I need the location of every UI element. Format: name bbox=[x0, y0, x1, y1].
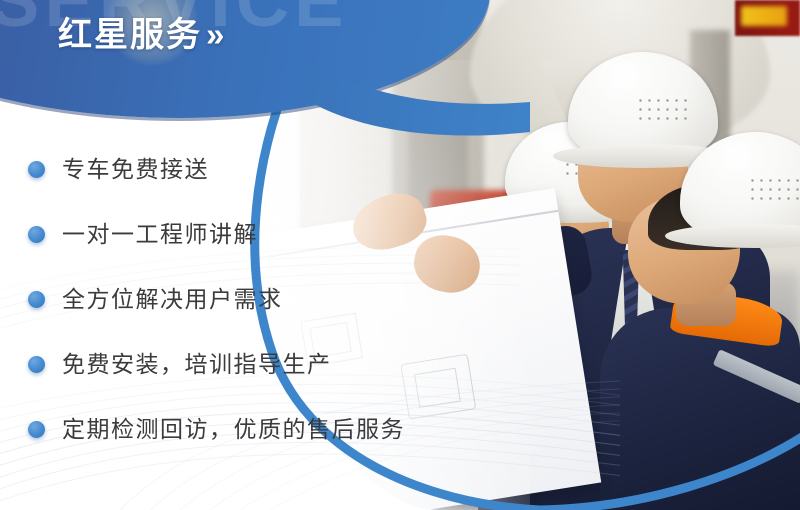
list-item[interactable]: 定期检测回访，优质的售后服务 bbox=[28, 412, 448, 446]
list-item[interactable]: 全方位解决用户需求 bbox=[28, 282, 448, 316]
bullet-dot-icon bbox=[28, 226, 45, 243]
bullet-dot-icon bbox=[28, 421, 45, 438]
bullet-dot-icon bbox=[28, 356, 45, 373]
page-title-text: 红星服务 bbox=[58, 16, 202, 54]
hardhat-vent-holes-icon bbox=[636, 96, 687, 120]
page-title: 红星服务» bbox=[58, 14, 220, 57]
photo-wall-sign bbox=[735, 0, 800, 36]
list-item-label: 全方位解决用户需求 bbox=[62, 288, 283, 311]
bullet-dot-icon bbox=[28, 161, 45, 178]
list-item[interactable]: 免费安装，培训指导生产 bbox=[28, 347, 448, 381]
list-item-label: 免费安装，培训指导生产 bbox=[62, 353, 332, 376]
list-item[interactable]: 一对一工程师讲解 bbox=[28, 217, 448, 251]
list-item[interactable]: 专车免费接送 bbox=[28, 152, 448, 186]
bullet-dot-icon bbox=[28, 291, 45, 308]
list-item-label: 专车免费接送 bbox=[62, 158, 209, 181]
hardhat-vent-holes-icon bbox=[748, 176, 799, 200]
chevron-right-icon: » bbox=[206, 16, 220, 53]
service-banner: SERVICE 红星服务» 专车免费接送 一对一工程师讲解 全方位解决用户需求 … bbox=[0, 0, 800, 510]
list-item-label: 一对一工程师讲解 bbox=[62, 223, 258, 246]
list-item-label: 定期检测回访，优质的售后服务 bbox=[62, 418, 405, 441]
service-list: 专车免费接送 一对一工程师讲解 全方位解决用户需求 免费安装，培训指导生产 定期… bbox=[28, 152, 448, 477]
